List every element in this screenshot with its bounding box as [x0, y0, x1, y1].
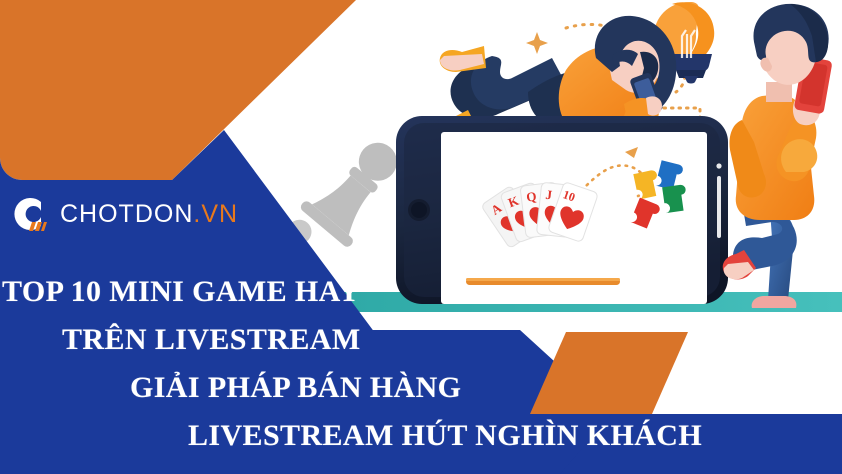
- brand-logo[interactable]: CHOTDON.VN: [10, 194, 238, 234]
- headline-line-1: TOP 10 MINI GAME HAY: [0, 268, 842, 316]
- headline-line-2: TRÊN LIVESTREAM: [0, 316, 842, 364]
- headline-line-3: GIẢI PHÁP BÁN HÀNG: [0, 364, 842, 412]
- brand-logo-text: CHOTDON.VN: [60, 202, 238, 227]
- headline-block: TOP 10 MINI GAME HAY TRÊN LIVESTREAM GIẢ…: [0, 268, 842, 460]
- promo-banner: A K Q: [0, 0, 842, 474]
- chotdon-c-mark-icon: [10, 194, 50, 234]
- headline-line-4: LIVESTREAM HÚT NGHÌN KHÁCH: [0, 412, 842, 460]
- brand-name-tld: VN: [201, 200, 238, 228]
- svg-text:Q: Q: [525, 189, 537, 205]
- brand-name-main: CHOTDON: [60, 200, 193, 228]
